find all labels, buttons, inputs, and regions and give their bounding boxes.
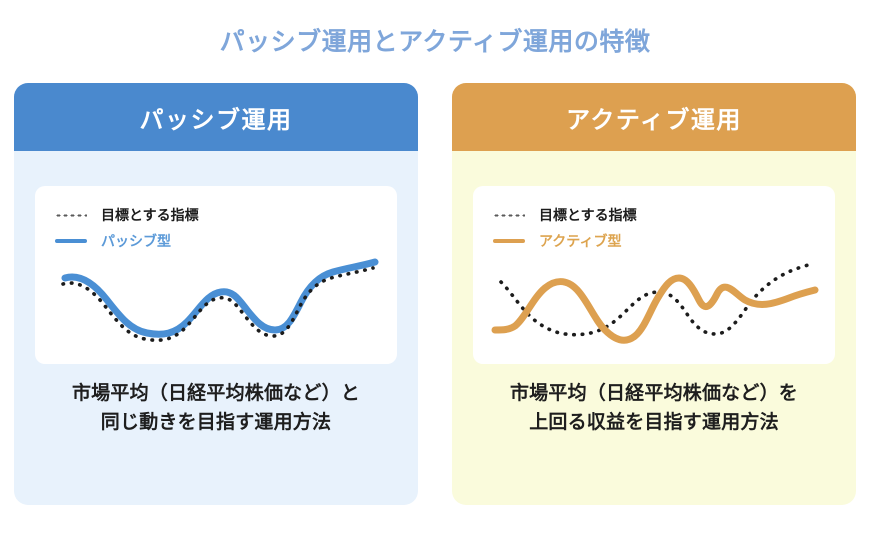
card-active-caption-line-1: 市場平均（日経平均株価など）を: [452, 379, 856, 408]
dotted-line-icon: [491, 208, 527, 222]
card-passive-caption-line-2: 同じ動きを目指す運用方法: [14, 408, 418, 437]
card-active-caption: 市場平均（日経平均株価など）を 上回る収益を目指す運用方法: [452, 379, 856, 438]
chart-passive: [35, 238, 397, 364]
card-passive-caption: 市場平均（日経平均株価など）と 同じ動きを目指す運用方法: [14, 379, 418, 438]
card-active-header-label: アクティブ運用: [566, 100, 742, 135]
comparison-cards: パッシブ運用 目標とする指標 パッシブ型: [0, 83, 870, 507]
chart-panel-passive: 目標とする指標 パッシブ型: [35, 186, 397, 364]
legend-label-benchmark-active: 目標とする指標: [539, 208, 637, 222]
chart-panel-active: 目標とする指標 アクティブ型: [473, 186, 835, 364]
card-passive-header: パッシブ運用: [14, 83, 418, 151]
dotted-line-icon: [53, 208, 89, 222]
series-active-line: [495, 278, 815, 340]
card-active-caption-line-2: 上回る収益を目指す運用方法: [452, 408, 856, 437]
card-active: アクティブ運用 目標とする指標 アクティブ型: [452, 83, 856, 505]
page-title: パッシブ運用とアクティブ運用の特徴: [0, 22, 870, 58]
legend-item-benchmark-passive: 目標とする指標: [53, 202, 199, 228]
legend-item-benchmark-active: 目標とする指標: [491, 202, 637, 228]
card-passive: パッシブ運用 目標とする指標 パッシブ型: [14, 83, 418, 505]
legend-label-benchmark-passive: 目標とする指標: [101, 208, 199, 222]
card-active-header: アクティブ運用: [452, 83, 856, 151]
chart-active: [473, 238, 835, 364]
card-passive-caption-line-1: 市場平均（日経平均株価など）と: [14, 379, 418, 408]
card-passive-header-label: パッシブ運用: [140, 100, 293, 135]
